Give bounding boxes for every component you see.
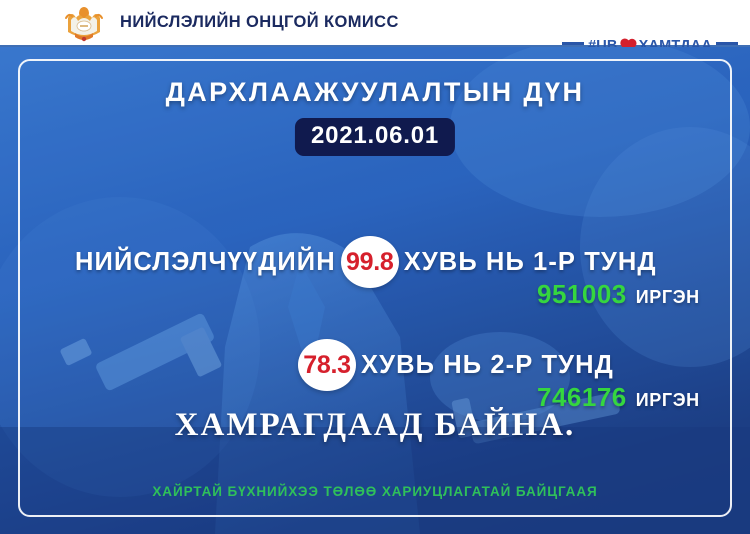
page-title: ДАРХЛААЖУУЛАЛТЫН ДҮН (0, 77, 750, 108)
poster-body: ДАРХЛААЖУУЛАЛТЫН ДҮН 2021.06.01 НИЙСЛЭЛЧ… (0, 47, 750, 534)
citizen-count: 951003 (537, 279, 627, 310)
footer-slogan: ХАЙРТАЙ БҮХНИЙХЭЭ ТӨЛӨӨ ХАРИУЦЛАГАТАЙ БА… (0, 484, 750, 499)
percent-bubble: 78.3 (298, 339, 356, 391)
stat-trail-text: ХУВЬ НЬ 1-Р ТУНД (404, 248, 657, 277)
citizen-count-unit: ИРГЭН (636, 287, 700, 308)
organization-name: НИЙСЛЭЛИЙН ОНЦГОЙ КОМИСС (120, 13, 399, 32)
stat-count-row: 951003 ИРГЭН (537, 279, 700, 310)
stat-trail-text: ХУВЬ НЬ 2-Р ТУНД (361, 351, 614, 380)
mongolia-coat-of-arms-icon (62, 2, 106, 46)
stat-lead-text: НИЙСЛЭЛЧҮҮДИЙН (75, 248, 336, 277)
report-date-badge: 2021.06.01 (295, 118, 455, 156)
conclusion-text: ХАМРАГДААД БАЙНА. (0, 407, 750, 444)
percent-bubble: 99.8 (341, 236, 399, 288)
vaccination-report-poster: НИЙСЛЭЛИЙН ОНЦГОЙ КОМИСС #UB ХАМТДАА (0, 0, 750, 534)
